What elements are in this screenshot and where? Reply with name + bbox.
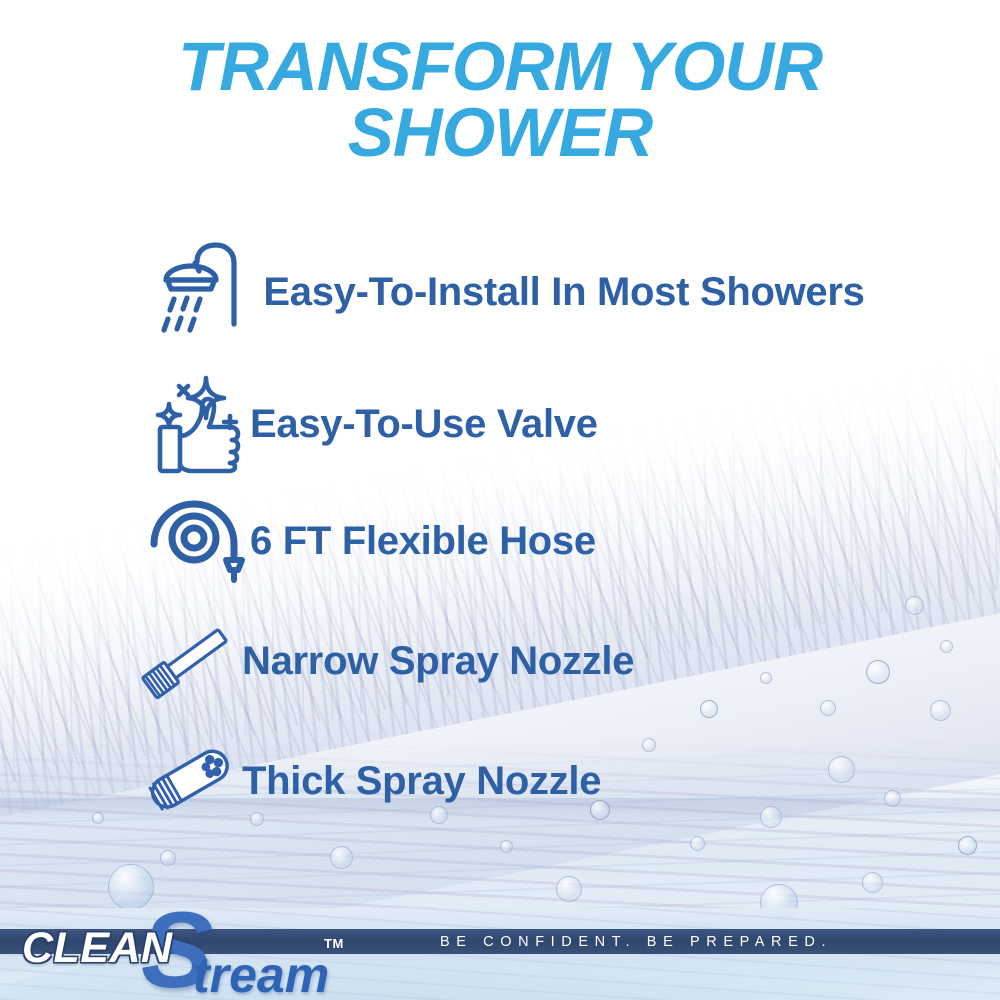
bubble — [866, 660, 890, 684]
bubble — [500, 840, 513, 853]
brand-logo: S CLEAN tream TM — [18, 910, 348, 994]
bubble — [760, 806, 782, 828]
feature-item-label: Thick Spray Nozzle — [242, 759, 601, 804]
footer-tagline: BE CONFIDENT. BE PREPARED. — [440, 929, 832, 954]
bubble — [862, 872, 883, 893]
feature-item-flexible-hose: 6 FT Flexible Hose — [146, 498, 596, 584]
coiled-hose-icon — [146, 498, 250, 584]
feature-item-thick-nozzle: Thick Spray Nozzle — [138, 738, 601, 824]
bubble — [700, 700, 718, 718]
feature-item-label: Narrow Spray Nozzle — [242, 639, 634, 684]
feature-item-label: Easy-To-Use Valve — [250, 402, 598, 447]
bubble — [760, 672, 772, 684]
feature-item-label: Easy-To-Install In Most Showers — [254, 270, 874, 315]
bubble — [556, 876, 582, 902]
water-droplet — [108, 864, 154, 910]
bubble — [820, 700, 836, 716]
thick-spray-nozzle-icon — [138, 738, 242, 824]
logo-word-tream: tream — [193, 950, 329, 1000]
feature-item-easy-to-install: Easy-To-Install In Most Showers — [150, 240, 910, 344]
bubble — [160, 850, 176, 866]
bubble — [330, 846, 353, 869]
bubble — [92, 812, 104, 824]
page-title: TRANSFORM YOUR SHOWER — [0, 34, 1000, 165]
bubble — [958, 836, 977, 855]
narrow-spray-nozzle-icon — [138, 618, 242, 704]
bubble — [905, 596, 924, 615]
shower-head-icon — [150, 240, 254, 344]
thumbs-up-sparkle-icon — [146, 374, 250, 474]
trademark-symbol: TM — [324, 936, 344, 951]
feature-item-easy-to-use-valve: Easy-To-Use Valve — [146, 374, 598, 474]
bubble — [930, 700, 951, 721]
bubble — [884, 790, 901, 807]
bubble — [828, 756, 855, 783]
feature-item-label: 6 FT Flexible Hose — [250, 519, 596, 564]
product-feature-poster: TRANSFORM YOUR SHOWER — [0, 0, 1000, 1000]
footer-bar: BE CONFIDENT. BE PREPARED. S CLEAN tream… — [0, 908, 1000, 1000]
bubble — [940, 640, 953, 653]
feature-item-narrow-nozzle: Narrow Spray Nozzle — [138, 618, 634, 704]
bubble — [690, 836, 705, 851]
logo-word-clean: CLEAN — [22, 924, 173, 973]
bubble — [642, 738, 656, 752]
